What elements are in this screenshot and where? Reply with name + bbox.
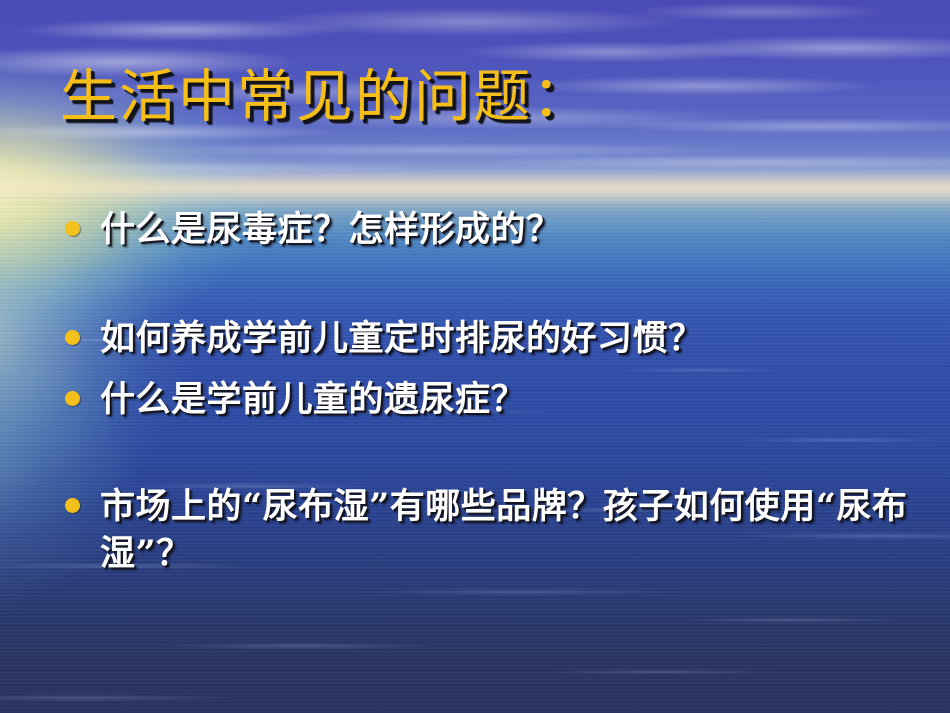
- bullet-list: 什么是尿毒症？怎样形成的？ 如何养成学前儿童定时排尿的好习惯？ 什么是学前儿童的…: [58, 206, 908, 577]
- bullet-item-label: 市场上的“尿布湿”有哪些品牌？孩子如何使用“尿布湿”？: [100, 486, 907, 574]
- bullet-item-label: 什么是学前儿童的遗尿症？: [100, 379, 526, 420]
- bullet-spacer: [58, 362, 908, 376]
- bullet-item-2: 如何养成学前儿童定时排尿的好习惯？: [58, 315, 908, 362]
- bullet-dot-icon: [65, 221, 80, 236]
- bullet-item-label: 如何养成学前儿童定时排尿的好习惯？: [100, 318, 704, 359]
- bullet-item-4: 市场上的“尿布湿”有哪些品牌？孩子如何使用“尿布湿”？: [58, 483, 908, 577]
- bullet-item-3: 什么是学前儿童的遗尿症？: [58, 376, 908, 423]
- bullet-spacer: [58, 423, 908, 483]
- bullet-dot-icon: [65, 330, 80, 345]
- bullet-dot-icon: [65, 498, 80, 513]
- bullet-spacer: [58, 253, 908, 315]
- slide-content: 生活中常见的问题： 什么是尿毒症？怎样形成的？ 如何养成学前儿童定时排尿的好习惯…: [0, 0, 950, 713]
- bullet-item-label: 什么是尿毒症？怎样形成的？: [100, 209, 562, 250]
- bullet-dot-icon: [65, 391, 80, 406]
- slide-title: 生活中常见的问题：: [60, 63, 591, 131]
- bullet-item-1: 什么是尿毒症？怎样形成的？: [58, 206, 908, 253]
- presentation-slide: 生活中常见的问题： 什么是尿毒症？怎样形成的？ 如何养成学前儿童定时排尿的好习惯…: [0, 0, 950, 713]
